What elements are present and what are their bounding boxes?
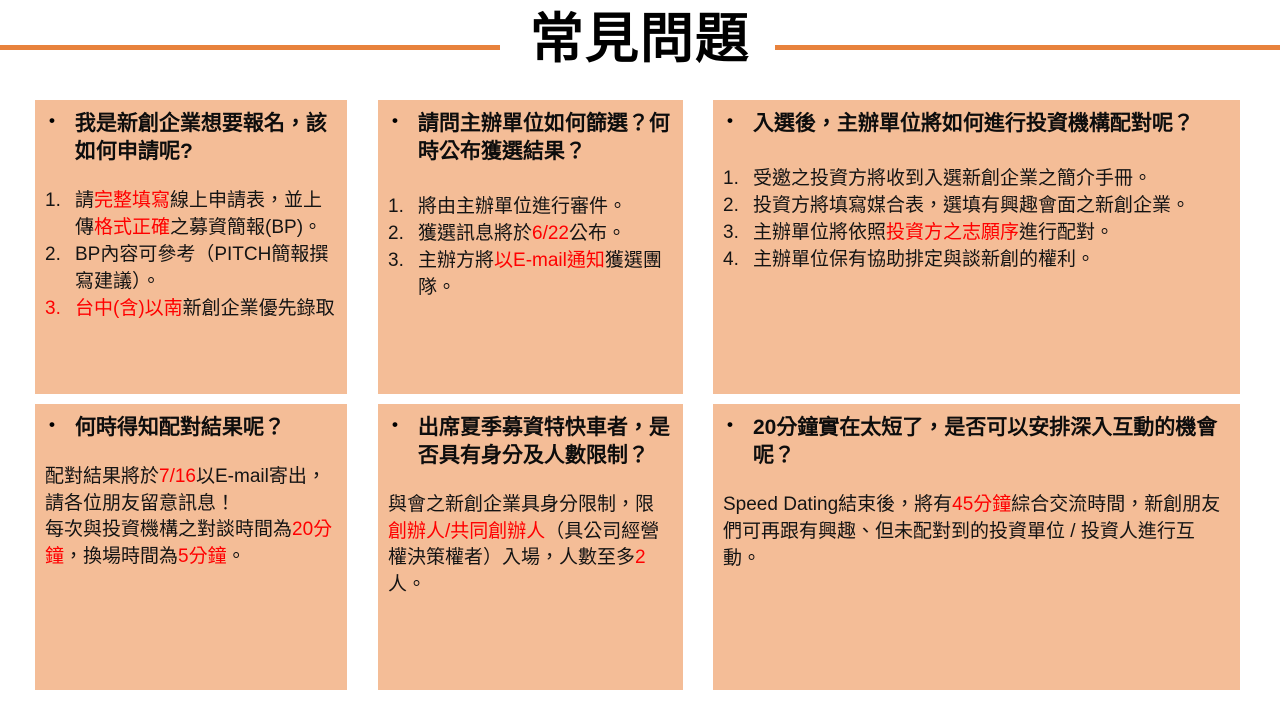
faq-answer-list: 1.受邀之投資方將收到入選新創企業之簡介手冊。2.投資方將填寫媒合表，選填有興趣…	[723, 166, 1228, 274]
highlight-text: 投資方之志願序	[886, 222, 1019, 243]
faq-answer-list: 1.請完整填寫線上申請表，並上傳格式正確之募資簡報(BP)。2.BP內容可參考（…	[45, 188, 335, 323]
faq-question-text: 入選後，主辦單位將如何進行投資機構配對呢？	[753, 110, 1228, 138]
faq-card-matching-process: • 入選後，主辦單位將如何進行投資機構配對呢？ 1.受邀之投資方將收到入選新創企…	[713, 100, 1240, 394]
faq-list-item: 4.主辦單位保有協助排定與談新創的權利。	[723, 247, 1228, 274]
faq-paragraph: 配對結果將於7/16以E-mail寄出，請各位朋友留意訊息！	[45, 464, 335, 517]
faq-list-item: 3.主辦方將以E-mail通知獲選團隊。	[388, 248, 671, 302]
list-number: 3.	[45, 296, 75, 323]
list-text: 主辦單位保有協助排定與談新創的權利。	[753, 247, 1228, 274]
plain-text: Speed Dating結束後，將有	[723, 494, 952, 515]
faq-list-item: 2.投資方將填寫媒合表，選填有興趣會面之新創企業。	[723, 193, 1228, 220]
highlight-text: 格式正確	[94, 217, 170, 238]
list-text: 獲選訊息將於6/22公布。	[418, 221, 671, 248]
list-text: 受邀之投資方將收到入選新創企業之簡介手冊。	[753, 166, 1228, 193]
faq-card-registration: • 我是新創企業想要報名，該如何申請呢? 1.請完整填寫線上申請表，並上傳格式正…	[35, 100, 347, 394]
faq-question: • 我是新創企業想要報名，該如何申請呢?	[45, 110, 335, 166]
highlight-text: 完整填寫	[94, 190, 170, 211]
list-number: 1.	[388, 194, 418, 221]
plain-text: 請	[75, 190, 94, 211]
list-number: 1.	[45, 188, 75, 215]
faq-question-text: 20分鐘實在太短了，是否可以安排深入互動的機會呢？	[753, 414, 1228, 470]
faq-question-text: 何時得知配對結果呢？	[75, 414, 335, 442]
bullet-icon: •	[727, 414, 753, 437]
bullet-icon: •	[49, 110, 75, 133]
faq-question-text: 我是新創企業想要報名，該如何申請呢?	[75, 110, 335, 166]
list-text: 將由主辦單位進行審件。	[418, 194, 671, 221]
list-text: 主辦單位將依照投資方之志願序進行配對。	[753, 220, 1228, 247]
list-text: 主辦方將以E-mail通知獲選團隊。	[418, 248, 671, 302]
plain-text: 。	[227, 546, 246, 567]
faq-question: • 20分鐘實在太短了，是否可以安排深入互動的機會呢？	[723, 414, 1228, 470]
highlight-text: 5分鐘	[178, 546, 227, 567]
faq-answer-body: Speed Dating結束後，將有45分鐘綜合交流時間，新創朋友們可再跟有興趣…	[723, 492, 1228, 573]
plain-text: 新創企業優先錄取	[183, 298, 335, 319]
plain-text: 進行配對。	[1019, 222, 1114, 243]
plain-text: 投資方將填寫媒合表，選填有興趣會面之新創企業。	[753, 195, 1190, 216]
faq-question: • 何時得知配對結果呢？	[45, 414, 335, 442]
plain-text: BP內容可參考（PITCH簡報撰寫建議）。	[75, 244, 328, 292]
faq-question: • 請問主辦單位如何篩選？何時公布獲選結果？	[388, 110, 671, 166]
plain-text: 將由主辦單位進行審件。	[418, 196, 627, 217]
plain-text: 主辦單位保有協助排定與談新創的權利。	[753, 249, 1095, 270]
plain-text: ，換場時間為	[64, 546, 178, 567]
highlight-text: 6/22	[532, 223, 569, 244]
list-text: 投資方將填寫媒合表，選填有興趣會面之新創企業。	[753, 193, 1228, 220]
highlight-text: 2	[635, 547, 646, 568]
list-number: 1.	[723, 166, 753, 193]
faq-question-text: 請問主辦單位如何篩選？何時公布獲選結果？	[418, 110, 671, 166]
faq-answer-list: 1.將由主辦單位進行審件。2.獲選訊息將於6/22公布。3.主辦方將以E-mai…	[388, 194, 671, 302]
list-number: 2.	[723, 193, 753, 220]
list-number: 3.	[388, 248, 418, 275]
list-number: 2.	[388, 221, 418, 248]
faq-answer-body: 與會之新創企業具身分限制，限創辦人/共同創辦人（具公司經營權決策權者）入場，人數…	[388, 492, 671, 598]
faq-paragraph: 每次與投資機構之對談時間為20分鐘，換場時間為5分鐘。	[45, 517, 335, 570]
bullet-icon: •	[727, 110, 753, 133]
title-band: 常見問題	[0, 0, 1280, 92]
faq-card-extra-interaction: • 20分鐘實在太短了，是否可以安排深入互動的機會呢？ Speed Dating…	[713, 404, 1240, 690]
faq-card-attendee-limit: • 出席夏季募資特快車者，是否具有身分及人數限制？ 與會之新創企業具身分限制，限…	[378, 404, 683, 690]
highlight-text: 創辦人/共同創辦人	[388, 521, 545, 542]
faq-list-item: 1.受邀之投資方將收到入選新創企業之簡介手冊。	[723, 166, 1228, 193]
list-text: BP內容可參考（PITCH簡報撰寫建議）。	[75, 242, 335, 296]
highlight-text: 以E-mail通知	[494, 250, 605, 271]
faq-question: • 出席夏季募資特快車者，是否具有身分及人數限制？	[388, 414, 671, 470]
list-number: 4.	[723, 247, 753, 274]
faq-paragraph: 與會之新創企業具身分限制，限創辦人/共同創辦人（具公司經營權決策權者）入場，人數…	[388, 492, 671, 598]
plain-text: 每次與投資機構之對談時間為	[45, 519, 292, 540]
bullet-icon: •	[392, 110, 418, 133]
faq-list-item: 2.獲選訊息將於6/22公布。	[388, 221, 671, 248]
list-text: 請完整填寫線上申請表，並上傳格式正確之募資簡報(BP)。	[75, 188, 335, 242]
plain-text: 配對結果將於	[45, 466, 159, 487]
faq-list-item: 1.請完整填寫線上申請表，並上傳格式正確之募資簡報(BP)。	[45, 188, 335, 242]
bullet-icon: •	[392, 414, 418, 437]
faq-answer-body: 配對結果將於7/16以E-mail寄出，請各位朋友留意訊息！每次與投資機構之對談…	[45, 464, 335, 570]
plain-text: 主辦方將	[418, 250, 494, 271]
list-number: 3.	[723, 220, 753, 247]
page-title: 常見問題	[0, 8, 1280, 70]
list-text: 台中(含)以南新創企業優先錄取	[75, 296, 335, 323]
plain-text: 主辦單位將依照	[753, 222, 886, 243]
plain-text: 人。	[388, 574, 426, 595]
plain-text: 與會之新創企業具身分限制，限	[388, 494, 654, 515]
faq-list-item: 3.主辦單位將依照投資方之志願序進行配對。	[723, 220, 1228, 247]
faq-card-result-notice: • 何時得知配對結果呢？ 配對結果將於7/16以E-mail寄出，請各位朋友留意…	[35, 404, 347, 690]
highlight-text: 台中(含)以南	[75, 298, 183, 319]
faq-list-item: 2.BP內容可參考（PITCH簡報撰寫建議）。	[45, 242, 335, 296]
faq-paragraph: Speed Dating結束後，將有45分鐘綜合交流時間，新創朋友們可再跟有興趣…	[723, 492, 1228, 573]
plain-text: 受邀之投資方將收到入選新創企業之簡介手冊。	[753, 168, 1152, 189]
faq-list-item: 3.台中(含)以南新創企業優先錄取	[45, 296, 335, 323]
faq-card-screening: • 請問主辦單位如何篩選？何時公布獲選結果？ 1.將由主辦單位進行審件。2.獲選…	[378, 100, 683, 394]
faq-question-text: 出席夏季募資特快車者，是否具有身分及人數限制？	[418, 414, 671, 470]
faq-list-item: 1.將由主辦單位進行審件。	[388, 194, 671, 221]
slide-root: 常見問題 • 我是新創企業想要報名，該如何申請呢? 1.請完整填寫線上申請表，並…	[0, 0, 1280, 720]
highlight-text: 7/16	[159, 466, 196, 487]
plain-text: 獲選訊息將於	[418, 223, 532, 244]
plain-text: 之募資簡報(BP)。	[170, 217, 322, 238]
list-number: 2.	[45, 242, 75, 269]
bullet-icon: •	[49, 414, 75, 437]
highlight-text: 45分鐘	[952, 494, 1011, 515]
plain-text: 公布。	[569, 223, 626, 244]
faq-question: • 入選後，主辦單位將如何進行投資機構配對呢？	[723, 110, 1228, 138]
